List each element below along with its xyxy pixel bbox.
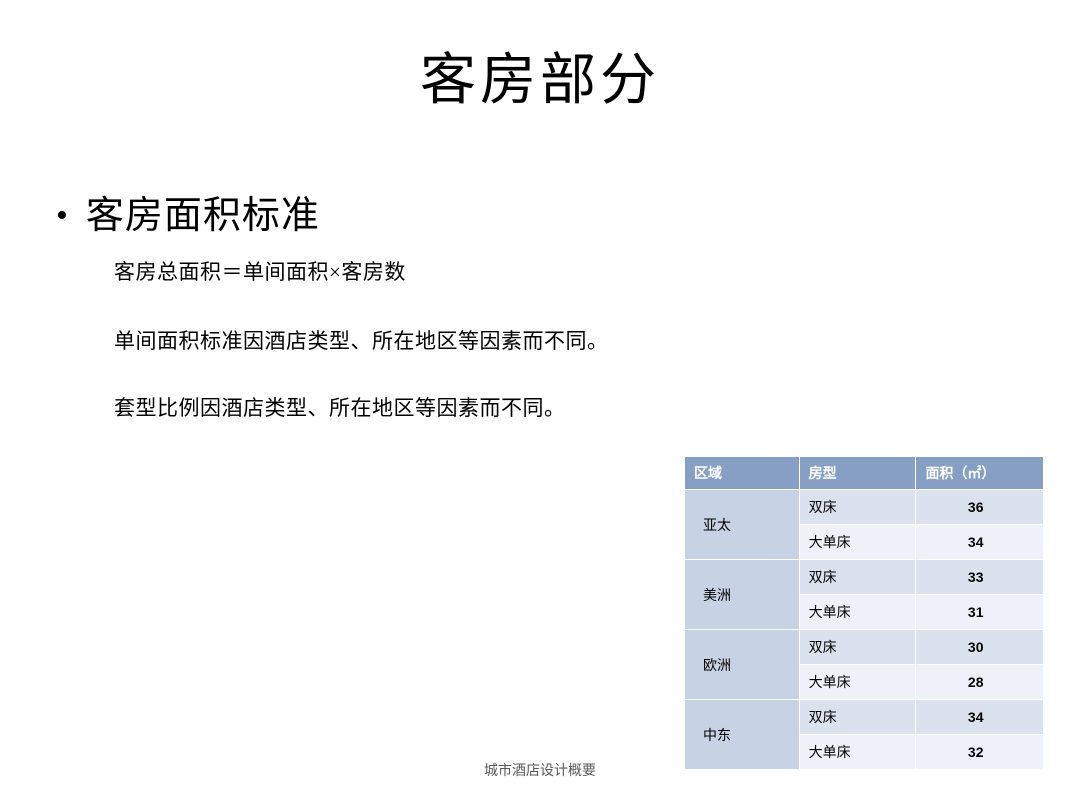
body-line-1: 客房总面积＝单间面积×客房数: [114, 256, 406, 286]
table-body: 亚太 双床 36 大单床 34 美洲 双床 33 大单床 31 欧洲 双床 30: [685, 490, 1044, 770]
table-row: 亚太 双床 36: [685, 490, 1044, 525]
cell-area: 36: [916, 490, 1044, 525]
cell-area: 30: [916, 630, 1044, 665]
cell-region: 欧洲: [685, 630, 800, 700]
cell-roomtype: 大单床: [799, 665, 916, 700]
table-header-region: 区域: [685, 457, 800, 490]
table-header-area: 面积（㎡）: [916, 457, 1044, 490]
slide-footer: 城市酒店设计概要: [0, 760, 1080, 780]
table-row: 中东 双床 34: [685, 700, 1044, 735]
cell-roomtype: 双床: [799, 700, 916, 735]
cell-roomtype: 双床: [799, 630, 916, 665]
cell-area: 33: [916, 560, 1044, 595]
cell-roomtype: 大单床: [799, 525, 916, 560]
slide-canvas: 客房部分 • 客房面积标准 客房总面积＝单间面积×客房数 单间面积标准因酒店类型…: [0, 0, 1080, 810]
cell-region: 美洲: [685, 560, 800, 630]
body-line-2: 单间面积标准因酒店类型、所在地区等因素而不同。: [114, 325, 609, 355]
table-row: 美洲 双床 33: [685, 560, 1044, 595]
table-row: 欧洲 双床 30: [685, 630, 1044, 665]
table-header-roomtype: 房型: [799, 457, 916, 490]
page-title: 客房部分: [0, 48, 1080, 115]
cell-area: 28: [916, 665, 1044, 700]
cell-area: 34: [916, 525, 1044, 560]
room-area-table: 区域 房型 面积（㎡） 亚太 双床 36 大单床 34 美洲 双床 33 大单床: [684, 456, 1044, 770]
table-header-row: 区域 房型 面积（㎡）: [685, 457, 1044, 490]
bullet-heading: • 客房面积标准: [56, 192, 320, 240]
cell-area: 34: [916, 700, 1044, 735]
body-line-3: 套型比例因酒店类型、所在地区等因素而不同。: [114, 392, 566, 422]
bullet-heading-text: 客房面积标准: [86, 192, 320, 240]
table-header: 区域 房型 面积（㎡）: [685, 457, 1044, 490]
bullet-marker-icon: •: [56, 192, 68, 240]
cell-roomtype: 双床: [799, 490, 916, 525]
cell-area: 31: [916, 595, 1044, 630]
cell-region: 中东: [685, 700, 800, 770]
cell-roomtype: 大单床: [799, 595, 916, 630]
cell-region: 亚太: [685, 490, 800, 560]
cell-roomtype: 双床: [799, 560, 916, 595]
